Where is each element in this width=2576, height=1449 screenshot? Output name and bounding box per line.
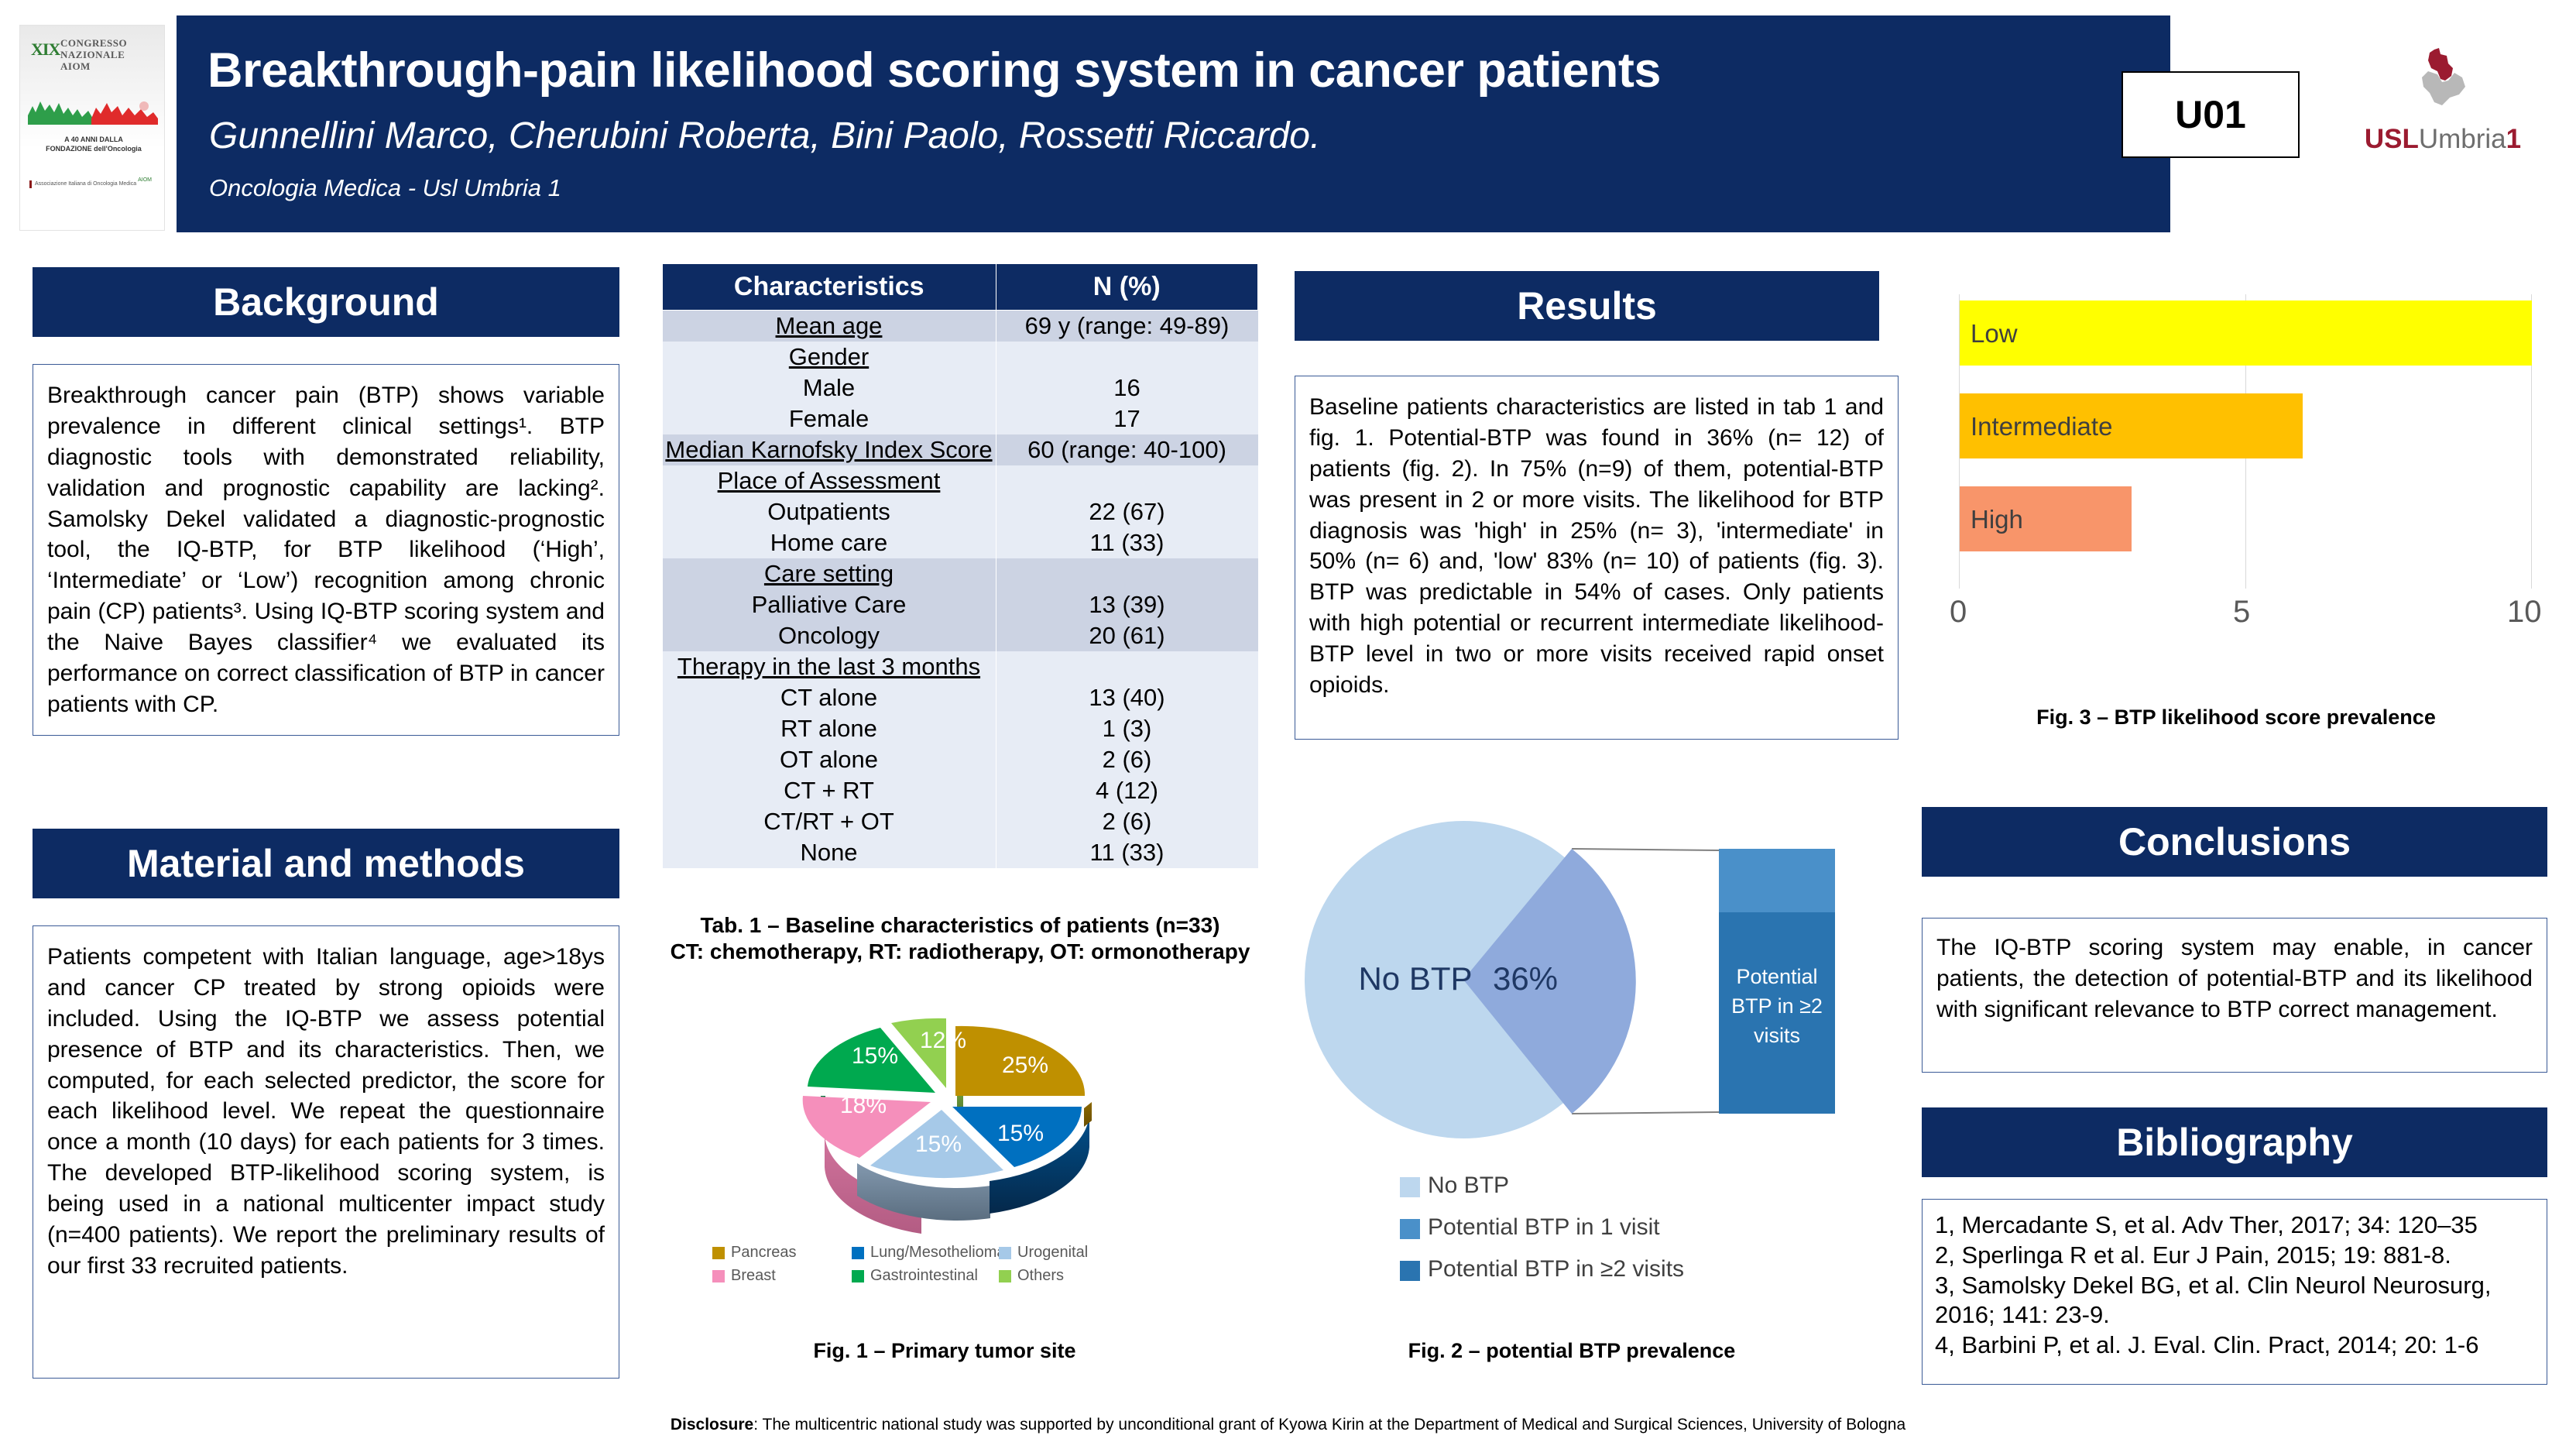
fig2-bar-segment-1-visit xyxy=(1719,849,1835,912)
section-header-conclusions: Conclusions xyxy=(1922,807,2547,877)
poster-header-bar: Breakthrough-pain likelihood scoring sys… xyxy=(177,15,2170,232)
material-methods-text: Patients competent with Italian language… xyxy=(47,942,605,1282)
conclusions-text: The IQ-BTP scoring system may enable, in… xyxy=(1936,932,2533,1025)
fig1-legend-swatch-pancreas xyxy=(712,1247,725,1259)
congress-logo-footer: Associazione Italiana di Oncologia Medic… xyxy=(29,177,156,204)
fig2-bar-of-pie-chart: No BTP 36% Potential BTP in ≥2 visits No… xyxy=(1301,790,1843,1332)
fig1-label-lung: 15% xyxy=(997,1121,1044,1146)
table-row: OT alone2 (6) xyxy=(663,744,1258,775)
table-cell-value: 69 y (range: 49-89) xyxy=(996,311,1258,342)
table-row: RT alone1 (3) xyxy=(663,713,1258,744)
usl-umbria-logo: USLUmbria1 xyxy=(2354,45,2532,192)
congress-line2: NAZIONALE xyxy=(60,50,127,61)
conclusions-heading: Conclusions xyxy=(2118,819,2351,864)
fig3-plot-area: Low Intermediate High xyxy=(1959,294,2532,589)
table-row: None11 (33) xyxy=(663,837,1258,868)
congress-line3: AIOM xyxy=(60,61,127,73)
bibliography-panel: 1, Mercadante S, et al. Adv Ther, 2017; … xyxy=(1922,1199,2547,1385)
results-heading: Results xyxy=(1517,283,1657,328)
affiliation: Oncologia Medica - Usl Umbria 1 xyxy=(209,174,2052,202)
table-cell-value: 13 (40) xyxy=(996,682,1258,713)
table-cell-value: 4 (12) xyxy=(996,775,1258,806)
table-cell-value xyxy=(996,558,1258,589)
results-panel: Baseline patients characteristics are li… xyxy=(1295,376,1899,740)
fig3-bar-low: Low xyxy=(1960,300,2532,366)
fig1-label-others: 12% xyxy=(920,1028,966,1053)
fig3-bar-intermediate: Intermediate xyxy=(1960,393,2303,458)
fig2-legend-swatch-2plus-visits xyxy=(1400,1261,1420,1281)
table-cell-value: 11 (33) xyxy=(996,837,1258,868)
table-cell-value: 17 xyxy=(996,403,1258,434)
fig1-legend-label-pancreas: Pancreas xyxy=(731,1244,797,1262)
fig1-label-breast: 18% xyxy=(840,1093,887,1118)
table-cell-label: CT alone xyxy=(663,682,996,713)
disclosure-text: : The multicentric national study was su… xyxy=(753,1416,1905,1434)
table-cell-value: 13 (39) xyxy=(996,589,1258,620)
table-cell-value: 60 (range: 40-100) xyxy=(996,434,1258,465)
usl-text-part1: USL xyxy=(2365,124,2419,154)
section-header-bibliography: Bibliography xyxy=(1922,1107,2547,1177)
fig2-connector-bottom xyxy=(1572,1112,1719,1114)
fig3-xtick-0: 0 xyxy=(1950,595,1967,630)
fig1-legend-swatch-gi xyxy=(852,1270,864,1282)
material-methods-heading: Material and methods xyxy=(127,841,525,886)
congress-logo: XIX CONGRESSO NAZIONALE AIOM A 40 ANNI D… xyxy=(19,25,165,231)
author-list: Gunnellini Marco, Cherubini Roberta, Bin… xyxy=(209,116,2052,157)
table-cell-value: 16 xyxy=(996,373,1258,403)
congress-line1: CONGRESSO xyxy=(60,38,127,50)
bibliography-entry: 2, Sperlinga R et al. Eur J Pain, 2015; … xyxy=(1935,1241,2534,1271)
table-row: CT alone13 (40) xyxy=(663,682,1258,713)
fig3-caption: Fig. 3 – BTP likelihood score prevalence xyxy=(1919,705,2554,730)
table-cell-value xyxy=(996,465,1258,496)
fig2-legend-swatch-1-visit xyxy=(1400,1219,1420,1239)
fig2-pie-label-no-btp: No BTP xyxy=(1358,960,1472,997)
fig1-legend-swatch-others xyxy=(999,1270,1011,1282)
table-cell-value: 1 (3) xyxy=(996,713,1258,744)
fig1-legend-label-lung: Lung/Mesothelioma xyxy=(870,1244,1006,1262)
results-text: Baseline patients characteristics are li… xyxy=(1309,392,1884,701)
background-panel: Breakthrough cancer pain (BTP) shows var… xyxy=(33,364,619,736)
fig2-bar-label-line1: Potential xyxy=(1736,965,1817,988)
fig1-legend-label-others: Others xyxy=(1017,1267,1064,1285)
fig1-caption: Fig. 1 – Primary tumor site xyxy=(697,1338,1192,1364)
table-cell-value: 11 (33) xyxy=(996,527,1258,558)
section-header-background: Background xyxy=(33,267,619,337)
table-cell-value: 22 (67) xyxy=(996,496,1258,527)
fig2-svg: No BTP 36% Potential BTP in ≥2 visits xyxy=(1301,790,1843,1162)
table-row: CT/RT + OT2 (6) xyxy=(663,806,1258,837)
fig2-legend-label-2plus-visits: Potential BTP in ≥2 visits xyxy=(1428,1256,1684,1282)
fig1-label-gi: 15% xyxy=(852,1043,898,1069)
material-methods-panel: Patients competent with Italian language… xyxy=(33,925,619,1379)
table-row: Oncology20 (61) xyxy=(663,620,1258,651)
table-cell-value: 2 (6) xyxy=(996,806,1258,837)
baseline-characteristics-table: Characteristics N (%) Mean age69 y (rang… xyxy=(662,263,1258,868)
table-cell-label: CT/RT + OT xyxy=(663,806,996,837)
table-cell-value: 20 (61) xyxy=(996,620,1258,651)
bibliography-entry: 1, Mercadante S, et al. Adv Ther, 2017; … xyxy=(1935,1210,2534,1241)
congress-subtitle: A 40 ANNI DALLA FONDAZIONE dell'Oncologi… xyxy=(43,136,144,153)
fig1-pie-svg: 25% 15% 15% 18% 15% 12% xyxy=(697,949,1192,1282)
fig1-legend-swatch-breast xyxy=(712,1270,725,1282)
table-cell-label: OT alone xyxy=(663,744,996,775)
fig3-xtick-10: 10 xyxy=(2507,595,2542,630)
fig1-label-pancreas: 25% xyxy=(1002,1052,1048,1078)
fig1-legend-label-gi: Gastrointestinal xyxy=(870,1267,978,1285)
bibliography-entry: 4, Barbini P, et al. J. Eval. Clin. Prac… xyxy=(1935,1331,2534,1361)
poster-code-badge: U01 xyxy=(2122,71,2300,158)
disclosure-footer: Disclosure: The multicentric national st… xyxy=(0,1416,2576,1434)
usl-text-part3: 1 xyxy=(2506,124,2521,154)
table-cell-label: Median Karnofsky Index Score xyxy=(663,434,996,465)
table-row: Home care11 (33) xyxy=(663,527,1258,558)
table-cell-label: Oncology xyxy=(663,620,996,651)
bibliography-heading: Bibliography xyxy=(2116,1120,2353,1165)
table1: Characteristics N (%) Mean age69 y (rang… xyxy=(662,263,1258,868)
bibliography-list: 1, Mercadante S, et al. Adv Ther, 2017; … xyxy=(1935,1210,2534,1361)
fig2-connector-top xyxy=(1572,849,1719,850)
italian-flag-skyline-icon xyxy=(26,92,159,125)
fig2-legend-label-1-visit: Potential BTP in 1 visit xyxy=(1428,1214,1660,1241)
table-row: Female17 xyxy=(663,403,1258,434)
table-cell-label: Home care xyxy=(663,527,996,558)
table-row: Place of Assessment xyxy=(663,465,1258,496)
section-header-results: Results xyxy=(1295,271,1879,341)
table-cell-label: Palliative Care xyxy=(663,589,996,620)
fig2-bar-label-line3: visits xyxy=(1754,1024,1800,1047)
bibliography-entry: 3, Samolsky Dekel BG, et al. Clin Neurol… xyxy=(1935,1271,2534,1331)
congress-name: CONGRESSO NAZIONALE AIOM xyxy=(60,38,127,73)
fig1-label-urogenital: 15% xyxy=(915,1131,962,1157)
table-col-characteristics: Characteristics xyxy=(663,264,996,311)
fig3-bar-label-low: Low xyxy=(1971,319,2018,349)
conclusions-panel: The IQ-BTP scoring system may enable, in… xyxy=(1922,918,2547,1073)
page-title: Breakthrough-pain likelihood scoring sys… xyxy=(208,45,2050,96)
background-heading: Background xyxy=(213,280,439,324)
poster-code-text: U01 xyxy=(2175,92,2246,137)
table-header-row: Characteristics N (%) xyxy=(663,264,1258,311)
fig3-bar-chart: Low Intermediate High 0 5 10 xyxy=(1919,287,2554,658)
table1-caption-line1: Tab. 1 – Baseline characteristics of pat… xyxy=(654,912,1266,939)
usl-logo-text: USLUmbria1 xyxy=(2354,124,2532,155)
background-text: Breakthrough cancer pain (BTP) shows var… xyxy=(47,380,605,720)
fig2-bar-label-line2: BTP in ≥2 xyxy=(1731,994,1823,1018)
fig2-legend-swatch-no-btp xyxy=(1400,1177,1420,1197)
fig3-xtick-5: 5 xyxy=(2233,595,2250,630)
fig1-legend-swatch-urogenital xyxy=(999,1247,1011,1259)
table-cell-label: Place of Assessment xyxy=(663,465,996,496)
fig1-legend-label-urogenital: Urogenital xyxy=(1017,1244,1088,1262)
table-cell-label: Gender xyxy=(663,342,996,373)
fig3-bar-high: High xyxy=(1960,486,2132,551)
table-row: Median Karnofsky Index Score60 (range: 4… xyxy=(663,434,1258,465)
table-row: Care setting xyxy=(663,558,1258,589)
table-cell-label: Mean age xyxy=(663,311,996,342)
table-cell-label: RT alone xyxy=(663,713,996,744)
table-row: CT + RT4 (12) xyxy=(663,775,1258,806)
table-row: Mean age69 y (range: 49-89) xyxy=(663,311,1258,342)
disclosure-label: Disclosure xyxy=(671,1416,753,1434)
table-cell-label: Outpatients xyxy=(663,496,996,527)
table-cell-label: Female xyxy=(663,403,996,434)
congress-org-name: Associazione Italiana di Oncologia Medic… xyxy=(29,180,136,188)
fig3-bar-label-high: High xyxy=(1971,505,2023,534)
table-row: Palliative Care13 (39) xyxy=(663,589,1258,620)
umbria-region-map-icon xyxy=(2403,48,2473,122)
congress-roman-numeral: XIX xyxy=(31,39,60,60)
usl-text-part2: Umbria xyxy=(2419,124,2506,154)
fig2-pie-label-36: 36% xyxy=(1493,960,1558,997)
table-col-n-percent: N (%) xyxy=(996,264,1258,311)
fig2-caption: Fig. 2 – potential BTP prevalence xyxy=(1301,1338,1843,1364)
table-row: Therapy in the last 3 months xyxy=(663,651,1258,682)
fig1-pie-chart: 25% 15% 15% 18% 15% 12% Pancreas Lung/Me… xyxy=(697,949,1192,1336)
table-cell-value xyxy=(996,651,1258,682)
fig2-legend-label-no-btp: No BTP xyxy=(1428,1173,1509,1199)
table-cell-value xyxy=(996,342,1258,373)
table-body: Mean age69 y (range: 49-89)GenderMale16F… xyxy=(663,311,1258,869)
table-cell-label: Male xyxy=(663,373,996,403)
table-cell-value: 2 (6) xyxy=(996,744,1258,775)
table-cell-label: CT + RT xyxy=(663,775,996,806)
table-row: Male16 xyxy=(663,373,1258,403)
table-row: Outpatients22 (67) xyxy=(663,496,1258,527)
section-header-material-methods: Material and methods xyxy=(33,829,619,898)
table-cell-label: Care setting xyxy=(663,558,996,589)
fig3-bar-label-intermediate: Intermediate xyxy=(1971,412,2112,441)
aiom-mark: AIOM xyxy=(138,177,152,183)
fig1-legend-swatch-lung xyxy=(852,1247,864,1259)
table-row: Gender xyxy=(663,342,1258,373)
fig1-legend-label-breast: Breast xyxy=(731,1267,776,1285)
table-cell-label: Therapy in the last 3 months xyxy=(663,651,996,682)
table-cell-label: None xyxy=(663,837,996,868)
